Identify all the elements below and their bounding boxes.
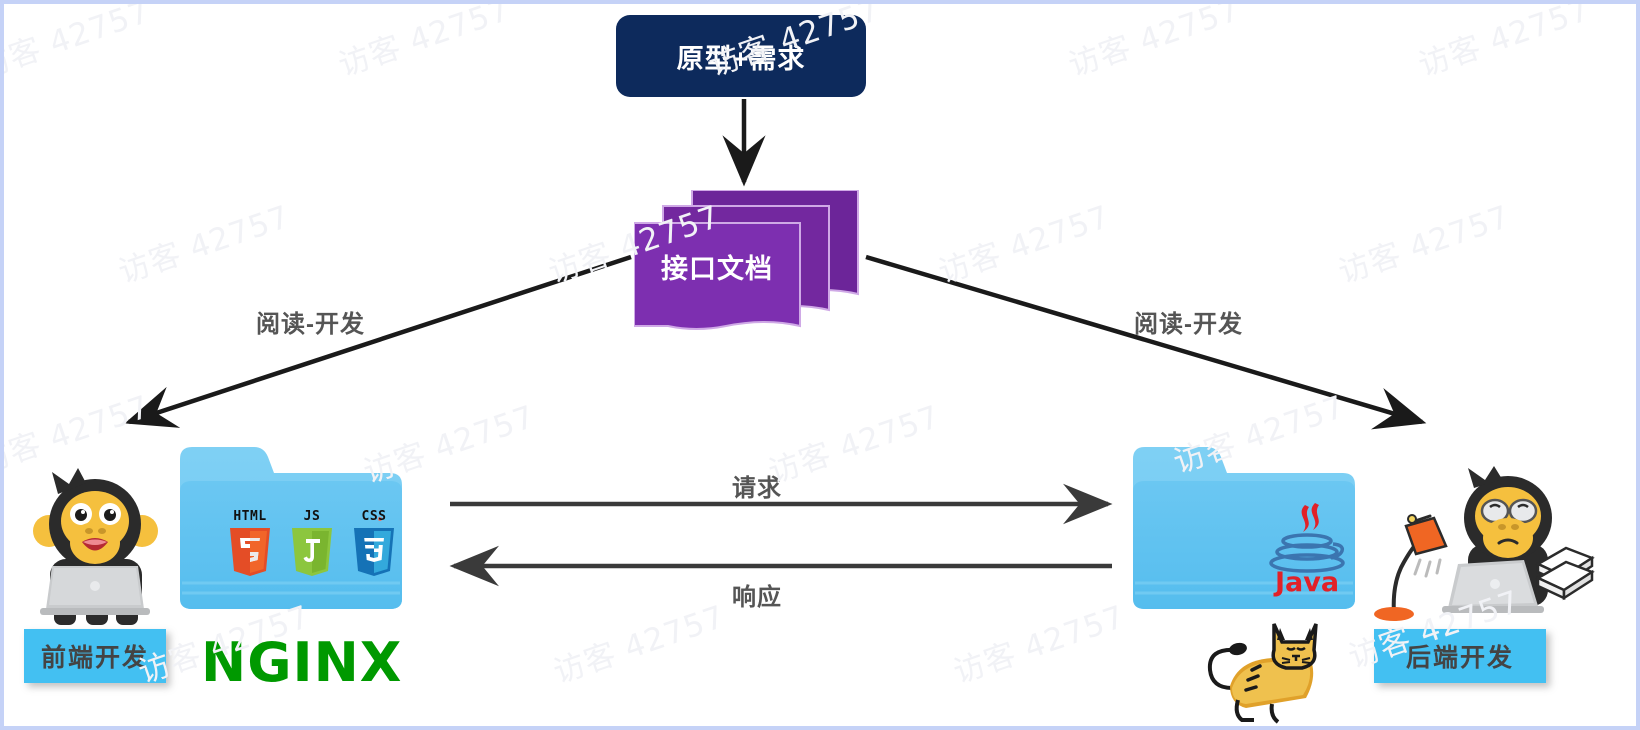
watermark-text: 访客 42757 xyxy=(332,4,515,85)
watermark-text: 访客 42757 xyxy=(4,4,155,87)
node-interface-document[interactable]: 接口文档 xyxy=(634,190,859,330)
node-prototype-requirements[interactable]: 原型+需求 xyxy=(616,15,866,97)
edge-label-doc-to-frontend: 阅读-开发 xyxy=(256,304,365,339)
watermark-text: 访客 42757 xyxy=(947,591,1130,692)
html5-badge-icon: HTML xyxy=(228,509,272,578)
watermark-text: 访客 42757 xyxy=(1062,4,1245,85)
backend-developer-monkey-icon xyxy=(1372,466,1572,624)
edge-label-doc-to-backend: 阅读-开发 xyxy=(1134,304,1243,339)
badge-frontend-development[interactable]: 前端开发 xyxy=(24,629,166,683)
node-interface-document-label: 接口文档 xyxy=(634,223,800,309)
watermark-text: 访客 42757 xyxy=(547,591,730,692)
watermark-text: 访客 42757 xyxy=(1412,4,1595,85)
badge-frontend-development-label: 前端开发 xyxy=(41,638,149,674)
java-logo-icon: Java xyxy=(1269,499,1349,594)
badge-backend-development-label: 后端开发 xyxy=(1406,638,1514,674)
javascript-badge-icon: JS xyxy=(290,509,334,578)
tomcat-logo-icon xyxy=(1194,616,1324,728)
svg-text:Java: Java xyxy=(1273,567,1339,598)
watermark-text: 访客 42757 xyxy=(762,391,945,492)
nginx-logo: NGINX xyxy=(201,631,402,694)
edge-label-response: 响应 xyxy=(732,577,782,612)
watermark-text: 访客 42757 xyxy=(1332,191,1515,292)
frontend-folder-icon[interactable]: HTML JS CSS xyxy=(176,441,406,613)
edge-label-request: 请求 xyxy=(732,468,782,503)
watermark-text: 访客 42757 xyxy=(932,191,1115,292)
backend-folder-icon[interactable]: Java xyxy=(1129,441,1359,613)
diagram-canvas: 原型+需求 接口文档 阅读-开发 阅读-开发 请求 响应 xyxy=(0,0,1640,730)
frontend-developer-monkey-icon xyxy=(28,464,163,629)
badge-backend-development[interactable]: 后端开发 xyxy=(1374,629,1546,683)
watermark-text: 访客 42757 xyxy=(112,191,295,292)
node-prototype-requirements-label: 原型+需求 xyxy=(677,37,806,76)
css3-badge-icon: CSS xyxy=(352,509,396,578)
